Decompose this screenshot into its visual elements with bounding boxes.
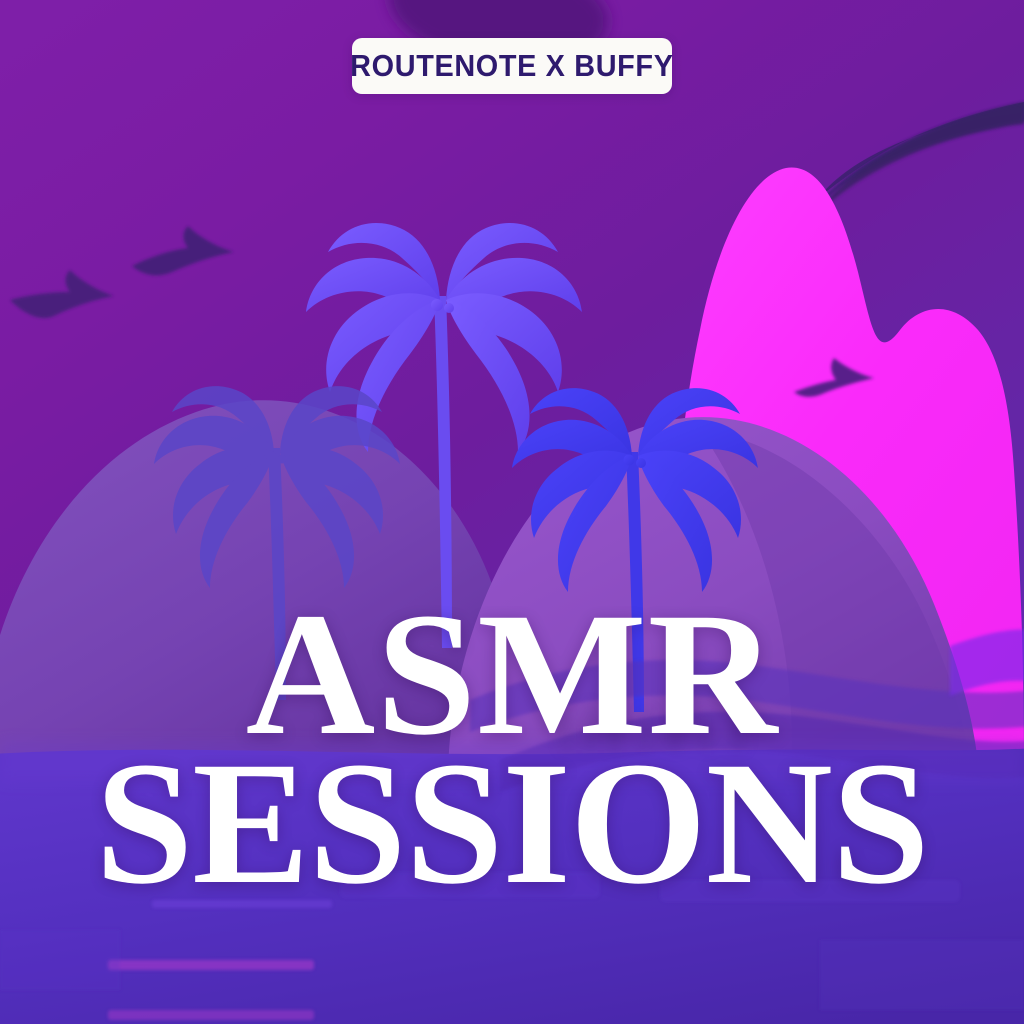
badge-label: ROUTENOTE X BUFFY — [350, 48, 673, 84]
routenote-buffy-badge: ROUTENOTE X BUFFY — [352, 38, 672, 94]
horizon-glow — [0, 742, 1024, 782]
scene-illustration — [0, 0, 1024, 1024]
album-artwork: ROUTENOTE X BUFFY ASMR SESSIONS — [0, 0, 1024, 1024]
